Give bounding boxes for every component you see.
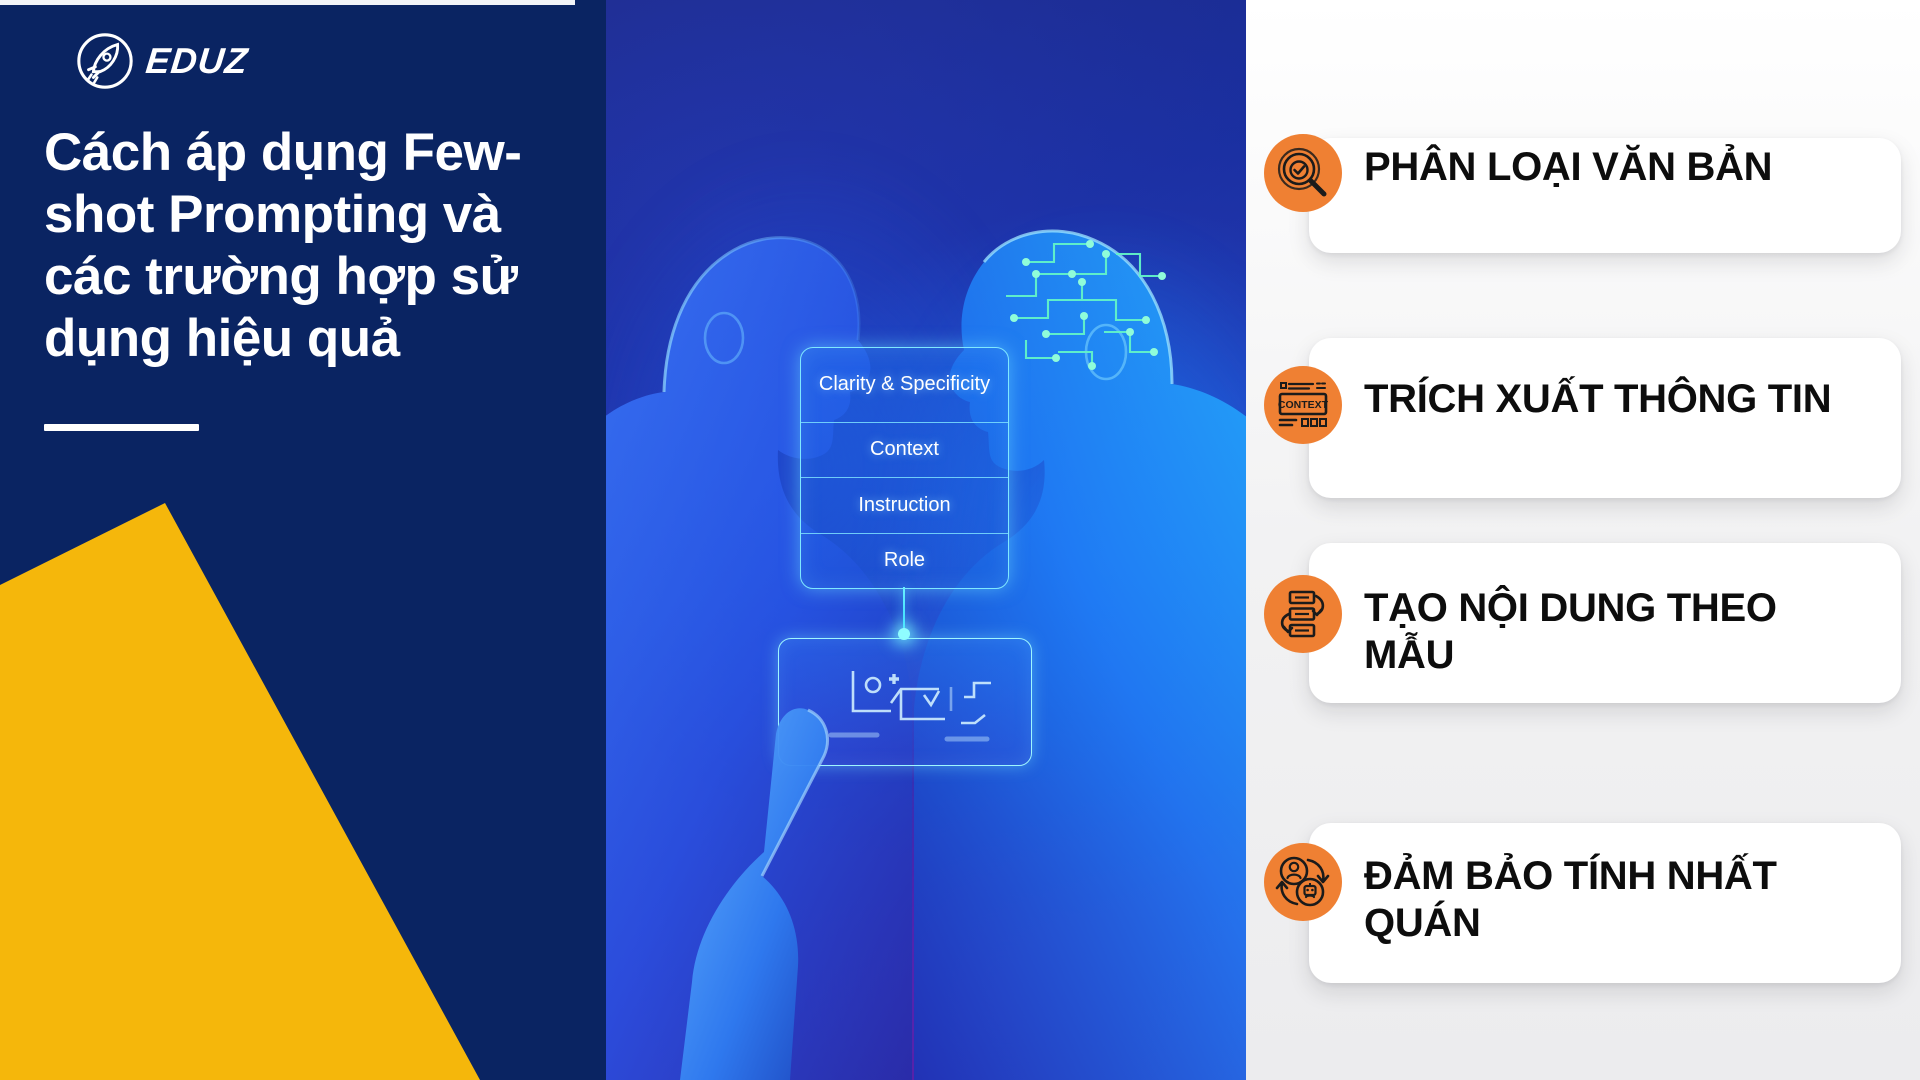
human-robot-exchange-icon: [1264, 843, 1342, 921]
brand-name: EDUZ: [144, 40, 250, 82]
stacked-list-refresh-icon: [1264, 575, 1342, 653]
prompt-anatomy-stack: Clarity & Specificity Context Instructio…: [800, 347, 1009, 589]
title-underline: [44, 424, 199, 431]
magnifier-check-icon: [1264, 134, 1342, 212]
stack-layer-instruction: Instruction: [801, 478, 1008, 533]
use-case-label: ĐẢM BẢO TÍNH NHẤT QUÁN: [1364, 843, 1834, 947]
use-case-label: TẠO NỘI DUNG THEO MẪU: [1364, 575, 1834, 679]
infographic-canvas: EDUZ Cách áp dụng Few-shot Prompting và …: [0, 0, 1920, 1080]
stack-layer-context: Context: [801, 423, 1008, 478]
rocket-in-circle-icon: [74, 30, 136, 92]
brand-logo: EDUZ: [74, 30, 248, 92]
top-hairline: [0, 0, 575, 5]
use-case-row-3[interactable]: TẠO NỘI DUNG THEO MẪU: [1246, 575, 1834, 679]
use-case-row-4[interactable]: ĐẢM BẢO TÍNH NHẤT QUÁN: [1246, 843, 1834, 947]
finger-pointing: [666, 690, 896, 1080]
connector-node-dot: [898, 628, 910, 640]
stack-layer-role: Role: [801, 534, 1008, 588]
use-case-row-2[interactable]: CONTEXT TRÍCH XUẤT THÔNG TIN: [1246, 366, 1834, 444]
left-title-panel: EDUZ Cách áp dụng Few-shot Prompting và …: [0, 0, 606, 1080]
center-illustration: Clarity & Specificity Context Instructio…: [606, 0, 1246, 1080]
context-document-icon: CONTEXT: [1264, 366, 1342, 444]
use-case-label: PHÂN LOẠI VĂN BẢN: [1364, 134, 1834, 191]
use-case-row-1[interactable]: PHÂN LOẠI VĂN BẢN: [1246, 134, 1834, 212]
stack-layer-clarity: Clarity & Specificity: [801, 348, 1008, 423]
context-icon-text: CONTEXT: [1278, 399, 1329, 411]
page-title: Cách áp dụng Few-shot Prompting và các t…: [44, 122, 564, 370]
use-case-label: TRÍCH XUẤT THÔNG TIN: [1364, 366, 1834, 423]
